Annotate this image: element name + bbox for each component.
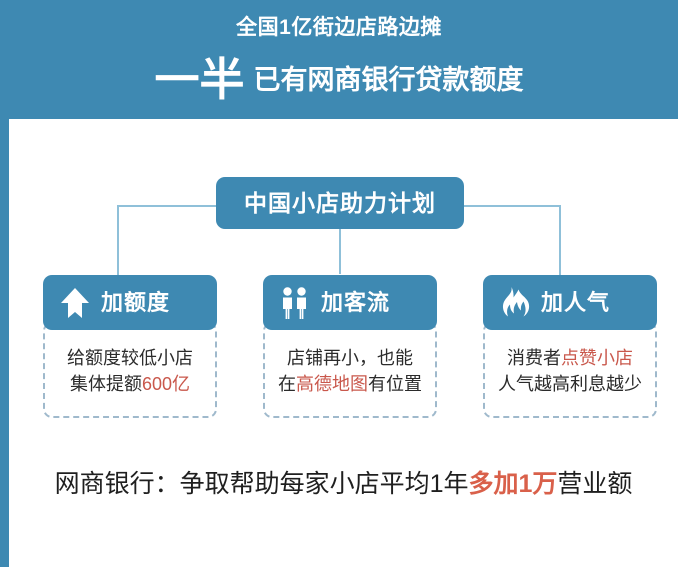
text-segment: 店铺再小，也能 xyxy=(287,348,413,368)
header-emphasis-text: 一半 xyxy=(154,57,244,102)
text-segment: 集体提额 xyxy=(70,374,142,394)
branch-card-popularity-line-2: 人气越高利息越少 xyxy=(491,372,649,398)
flame-icon xyxy=(496,284,534,322)
text-segment: 消费者 xyxy=(507,348,561,368)
up-arrow-icon xyxy=(56,284,94,322)
branch-card-traffic-line-2: 在高德地图有位置 xyxy=(271,372,429,398)
diagram-area: 中国小店助力计划 加额度 给额度较低小店 集体提额600亿 xyxy=(9,119,678,567)
text-segment-highlight: 高德地图 xyxy=(296,374,368,394)
connector-right-drop xyxy=(559,205,561,275)
root-node-label: 中国小店助力计划 xyxy=(244,192,436,215)
branch-card-popularity[interactable]: 加人气 消费者点赞小店 人气越高利息越少 xyxy=(483,275,657,418)
branch-card-quota-title: 加额度 xyxy=(101,292,170,314)
connector-root-down xyxy=(339,229,341,274)
header-headline-secondary: 一半已有网商银行贷款额度 xyxy=(0,57,678,102)
branch-card-popularity-line-1: 消费者点赞小店 xyxy=(491,346,649,372)
branch-card-quota-body: 给额度较低小店 集体提额600亿 xyxy=(43,322,217,418)
root-node[interactable]: 中国小店助力计划 xyxy=(216,177,464,229)
text-segment: 给额度较低小店 xyxy=(67,348,193,368)
branch-card-traffic-body: 店铺再小，也能 在高德地图有位置 xyxy=(263,322,437,418)
branch-card-quota[interactable]: 加额度 给额度较低小店 集体提额600亿 xyxy=(43,275,217,418)
text-segment: 人气越高利息越少 xyxy=(498,374,642,394)
text-segment: 有位置 xyxy=(368,374,422,394)
connector-left-drop xyxy=(117,205,119,275)
branch-card-popularity-header[interactable]: 加人气 xyxy=(483,275,657,330)
footer-prefix: 网商银行：争取帮助每家小店平均1年 xyxy=(55,470,469,498)
header-headline-primary: 全国1亿街边店路边摊 xyxy=(0,17,678,38)
branch-card-quota-line-2: 集体提额600亿 xyxy=(51,372,209,398)
two-people-icon xyxy=(276,284,314,322)
branch-card-traffic-header[interactable]: 加客流 xyxy=(263,275,437,330)
branch-card-popularity-body: 消费者点赞小店 人气越高利息越少 xyxy=(483,322,657,418)
text-segment: 在 xyxy=(278,374,296,394)
branch-card-quota-line-1: 给额度较低小店 xyxy=(51,346,209,372)
branch-card-quota-header[interactable]: 加额度 xyxy=(43,275,217,330)
branch-card-traffic-line-1: 店铺再小，也能 xyxy=(271,346,429,372)
footer-highlight: 多加1万 xyxy=(468,470,557,498)
header-band: 全国1亿街边店路边摊 一半已有网商银行贷款额度 xyxy=(0,0,678,119)
footer-suffix: 营业额 xyxy=(557,470,632,498)
infographic-canvas: 全国1亿街边店路边摊 一半已有网商银行贷款额度 中国小店助力计划 加额 xyxy=(0,0,678,567)
branch-card-traffic-title: 加客流 xyxy=(321,292,390,314)
header-subtitle-text: 已有网商银行贷款额度 xyxy=(254,67,524,94)
branch-card-popularity-title: 加人气 xyxy=(541,292,610,314)
text-segment-highlight: 点赞小店 xyxy=(561,348,633,368)
text-segment-highlight: 600亿 xyxy=(142,374,190,394)
branch-card-traffic[interactable]: 加客流 店铺再小，也能 在高德地图有位置 xyxy=(263,275,437,418)
footer-statement: 网商银行：争取帮助每家小店平均1年多加1万营业额 xyxy=(9,472,678,497)
left-accent-stripe xyxy=(0,119,9,567)
